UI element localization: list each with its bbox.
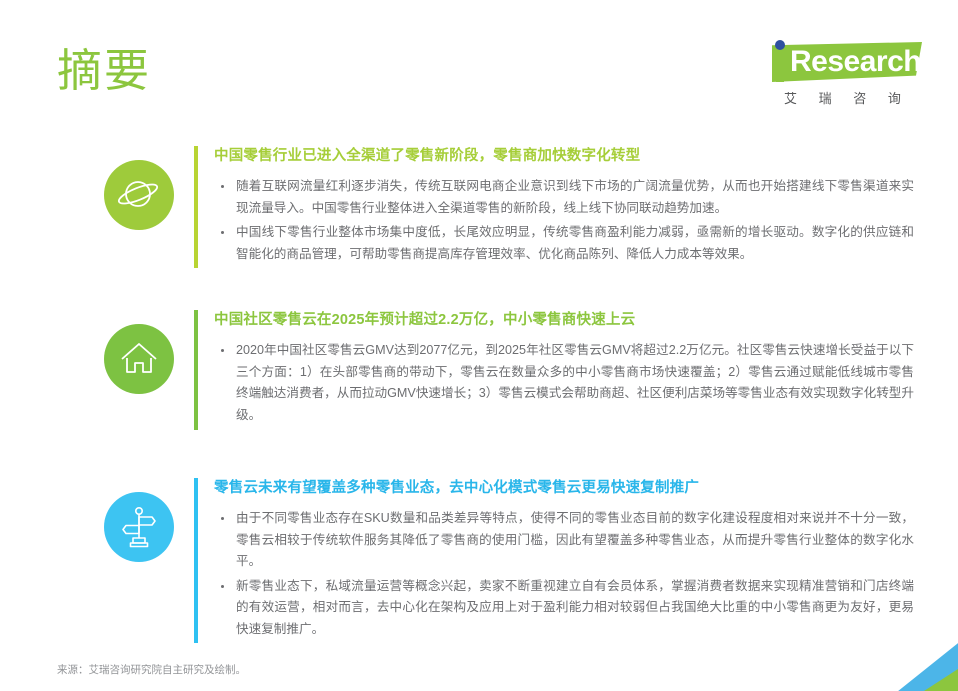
list-item: 新零售业态下，私域流量运营等概念兴起，卖家不断重视建立自有会员体系，掌握消费者数… bbox=[214, 576, 914, 641]
section-2-bullet-list: 2020年中国社区零售云GMV达到2077亿元，到2025年社区零售云GMV将超… bbox=[214, 340, 914, 426]
summary-section-3: 零售云未来有望覆盖多种零售业态，去中心化模式零售云更易快速复制推广 由于不同零售… bbox=[84, 478, 914, 643]
section-3-bullet-list: 由于不同零售业态存在SKU数量和品类差异等特点，使得不同的零售业态目前的数字化建… bbox=[214, 508, 914, 640]
section-3-icon-wrap bbox=[84, 478, 194, 562]
logo-wordmark: Research bbox=[790, 45, 921, 79]
house-icon bbox=[104, 324, 174, 394]
section-2-icon-wrap bbox=[84, 310, 194, 394]
logo-i-stem bbox=[776, 52, 784, 82]
section-1-body: 中国零售行业已进入全渠道了零售新阶段，零售商加快数字化转型 随着互联网流量红利逐… bbox=[194, 146, 914, 268]
logo-mark: Research bbox=[754, 40, 922, 84]
iresearch-logo: Research 艾 瑞 咨 询 bbox=[754, 40, 922, 112]
planet-icon bbox=[104, 160, 174, 230]
list-item: 中国线下零售行业整体市场集中度低，长尾效应明显，传统零售商盈利能力减弱，亟需新的… bbox=[214, 222, 914, 265]
summary-section-1: 中国零售行业已进入全渠道了零售新阶段，零售商加快数字化转型 随着互联网流量红利逐… bbox=[84, 146, 914, 268]
list-item: 随着互联网流量红利逐步消失，传统互联网电商企业意识到线下市场的广阔流量优势，从而… bbox=[214, 176, 914, 219]
corner-decoration bbox=[890, 639, 958, 691]
list-item: 由于不同零售业态存在SKU数量和品类差异等特点，使得不同的零售业态目前的数字化建… bbox=[214, 508, 914, 573]
list-item: 2020年中国社区零售云GMV达到2077亿元，到2025年社区零售云GMV将超… bbox=[214, 340, 914, 426]
section-2-heading: 中国社区零售云在2025年预计超过2.2万亿，中小零售商快速上云 bbox=[214, 310, 914, 330]
section-3-heading: 零售云未来有望覆盖多种零售业态，去中心化模式零售云更易快速复制推广 bbox=[214, 478, 914, 498]
summary-section-2: 中国社区零售云在2025年预计超过2.2万亿，中小零售商快速上云 2020年中国… bbox=[84, 310, 914, 430]
page-title: 摘要 bbox=[57, 44, 151, 98]
section-3-body: 零售云未来有望覆盖多种零售业态，去中心化模式零售云更易快速复制推广 由于不同零售… bbox=[194, 478, 914, 643]
section-1-bullet-list: 随着互联网流量红利逐步消失，传统互联网电商企业意识到线下市场的广阔流量优势，从而… bbox=[214, 176, 914, 265]
logo-i-dot-icon bbox=[775, 40, 785, 50]
section-1-heading: 中国零售行业已进入全渠道了零售新阶段，零售商加快数字化转型 bbox=[214, 146, 914, 166]
source-note: 来源：艾瑞咨询研究院自主研究及绘制。 bbox=[57, 662, 246, 677]
section-2-body: 中国社区零售云在2025年预计超过2.2万亿，中小零售商快速上云 2020年中国… bbox=[194, 310, 914, 430]
signpost-icon bbox=[104, 492, 174, 562]
section-1-icon-wrap bbox=[84, 146, 194, 230]
logo-subtitle: 艾 瑞 咨 询 bbox=[784, 88, 910, 107]
